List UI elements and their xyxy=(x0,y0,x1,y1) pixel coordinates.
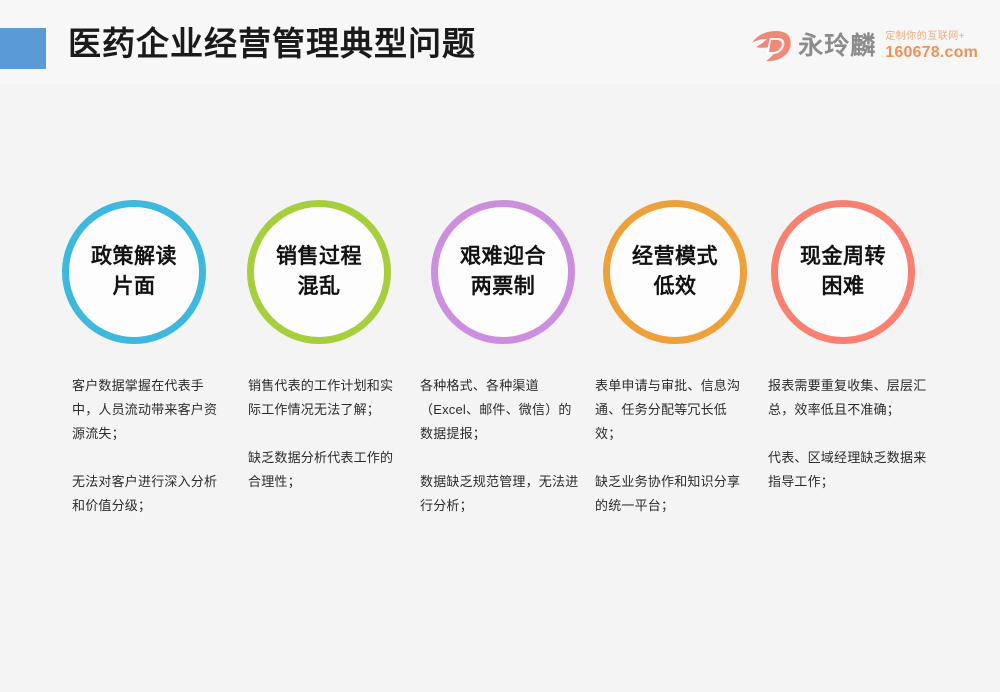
description-column-5-para1: 报表需要重复收集、层层汇总，效率低且不准确； xyxy=(768,374,930,422)
problem-circle-1-line1: 政策解读 xyxy=(91,242,177,272)
problem-circle-5: 现金周转 困难 xyxy=(771,200,915,344)
problem-circle-5-line2: 困难 xyxy=(822,272,865,302)
problem-circle-3-line1: 艰难迎合 xyxy=(460,242,546,272)
description-column-4-para1: 表单申请与审批、信息沟通、任务分配等冗长低效； xyxy=(595,374,753,446)
description-column-4-para2: 缺乏业务协作和知识分享的统一平台； xyxy=(595,470,753,518)
d-swoosh-icon xyxy=(750,29,792,63)
logo-text-group: 定制你的互联网+ 160678.com xyxy=(885,30,978,62)
problem-circle-2-line1: 销售过程 xyxy=(276,242,362,272)
problem-circle-1: 政策解读 片面 xyxy=(62,200,206,344)
problem-circle-4-line1: 经营模式 xyxy=(632,242,718,272)
description-column-5-para2: 代表、区域经理缺乏数据来指导工作； xyxy=(768,446,930,494)
problem-circle-5-line1: 现金周转 xyxy=(800,242,886,272)
problem-circle-1-line2: 片面 xyxy=(113,272,156,302)
page-title: 医药企业经营管理典型问题 xyxy=(68,22,476,66)
problem-circle-2: 销售过程 混乱 xyxy=(247,200,391,344)
description-column-1: 客户数据掌握在代表手中，人员流动带来客户资源流失； 无法对客户进行深入分析和价值… xyxy=(72,374,228,518)
header-accent-bar xyxy=(0,28,46,69)
description-column-3-para1: 各种格式、各种渠道（Excel、邮件、微信）的数据提报； xyxy=(420,374,580,446)
description-column-2-para1: 销售代表的工作计划和实际工作情况无法了解； xyxy=(248,374,400,422)
page-header: 医药企业经营管理典型问题 永玲麟 定制你的互联网+ 160678.com xyxy=(0,0,1000,84)
problem-circle-2-line2: 混乱 xyxy=(298,272,341,302)
description-column-1-para2: 无法对客户进行深入分析和价值分级； xyxy=(72,470,228,518)
logo-domain: 160678.com xyxy=(885,43,978,62)
description-column-4: 表单申请与审批、信息沟通、任务分配等冗长低效； 缺乏业务协作和知识分享的统一平台… xyxy=(595,374,753,518)
problem-circle-3-line2: 两票制 xyxy=(471,272,536,302)
problem-circle-4-line2: 低效 xyxy=(654,272,697,302)
logo-tagline: 定制你的互联网+ xyxy=(885,30,978,43)
description-column-3-para2: 数据缺乏规范管理，无法进行分析； xyxy=(420,470,580,518)
problem-circles-row: 政策解读 片面 销售过程 混乱 艰难迎合 两票制 经营模式 低效 现金周转 困难 xyxy=(62,200,947,348)
brand-logo: 永玲麟 定制你的互联网+ 160678.com xyxy=(750,24,978,68)
description-column-2: 销售代表的工作计划和实际工作情况无法了解； 缺乏数据分析代表工作的合理性； xyxy=(248,374,400,494)
problem-circle-4: 经营模式 低效 xyxy=(603,200,747,344)
logo-brand-name: 永玲麟 xyxy=(798,31,876,61)
description-column-1-para1: 客户数据掌握在代表手中，人员流动带来客户资源流失； xyxy=(72,374,228,446)
description-column-5: 报表需要重复收集、层层汇总，效率低且不准确； 代表、区域经理缺乏数据来指导工作； xyxy=(768,374,930,494)
problem-circle-3: 艰难迎合 两票制 xyxy=(431,200,575,344)
description-column-2-para2: 缺乏数据分析代表工作的合理性； xyxy=(248,446,400,494)
description-column-3: 各种格式、各种渠道（Excel、邮件、微信）的数据提报； 数据缺乏规范管理，无法… xyxy=(420,374,580,518)
